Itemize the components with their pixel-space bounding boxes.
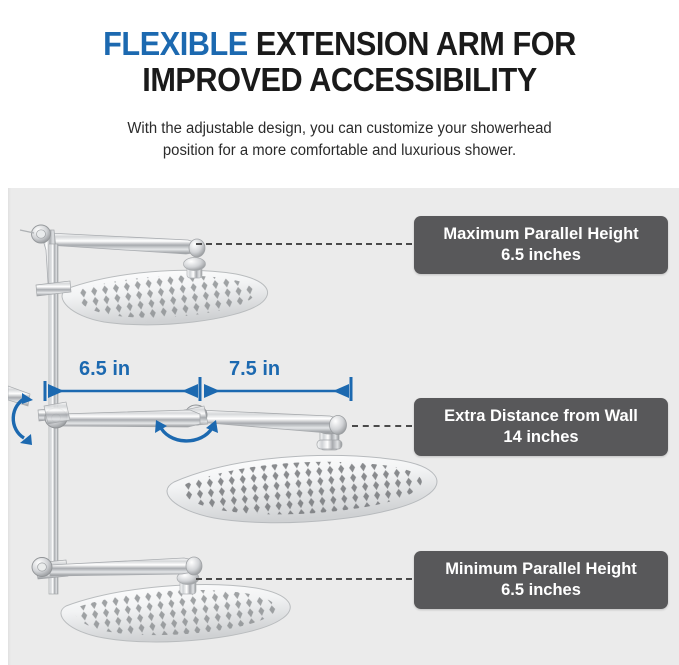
page-subtitle: With the adjustable design, you can cust…: [14, 118, 666, 162]
dimension-label-7-5-in: 7.5 in: [229, 358, 280, 381]
extension-arm-top: [48, 233, 205, 257]
showerhead-top: [62, 270, 268, 325]
callout-minimum-parallel-height: Minimum Parallel Height 6.5 inches: [414, 551, 668, 609]
dimension-arrowhead-1-right: [182, 384, 198, 398]
callout-bot-line-1: Minimum Parallel Height: [445, 559, 637, 580]
rotation-arrow-icon-mid: [160, 426, 212, 441]
middle-configuration: [44, 402, 437, 523]
page-title: FLEXIBLE EXTENSION ARM FOR IMPROVED ACCE…: [24, 26, 655, 98]
bottom-configuration: [32, 557, 290, 642]
arm-segment-outer: [198, 410, 347, 435]
dimension-arrowhead-2-right: [333, 384, 349, 398]
callout-bot-line-2: 6.5 inches: [501, 580, 581, 601]
title-rest: EXTENSION ARM FOR: [248, 25, 576, 62]
showerhead-middle: [167, 455, 437, 522]
leader-line-bottom: [196, 578, 412, 580]
arm-elbow-bottom: [32, 558, 52, 577]
header-section: FLEXIBLE EXTENSION ARM FOR IMPROVED ACCE…: [0, 0, 679, 188]
dimension-label-6-5-in: 6.5 in: [79, 358, 130, 381]
ball-joint-top: [184, 258, 206, 279]
callout-mid-line-1: Extra Distance from Wall: [444, 406, 638, 427]
showerhead-bottom: [61, 585, 290, 642]
leader-line-top: [196, 243, 412, 245]
callout-top-line-1: Maximum Parallel Height: [443, 224, 638, 245]
dimension-arrowhead-2-left: [204, 384, 220, 398]
infographic-page: FLEXIBLE EXTENSION ARM FOR IMPROVED ACCE…: [0, 0, 679, 665]
callout-extra-distance-from-wall: Extra Distance from Wall 14 inches: [414, 398, 668, 456]
arm-segment-inner: [60, 410, 200, 427]
title-highlight-word: FLEXIBLE: [103, 25, 248, 62]
subtitle-line-1: With the adjustable design, you can cust…: [127, 120, 551, 137]
callout-mid-line-2: 14 inches: [503, 427, 578, 448]
subtitle-line-2: position for a more comfortable and luxu…: [163, 142, 516, 159]
leader-line-middle: [352, 425, 412, 427]
callout-top-line-2: 6.5 inches: [501, 245, 581, 266]
extension-arm-bottom: [50, 557, 202, 576]
callout-maximum-parallel-height: Maximum Parallel Height 6.5 inches: [414, 216, 668, 274]
title-line-2: IMPROVED ACCESSIBILITY: [142, 61, 536, 98]
